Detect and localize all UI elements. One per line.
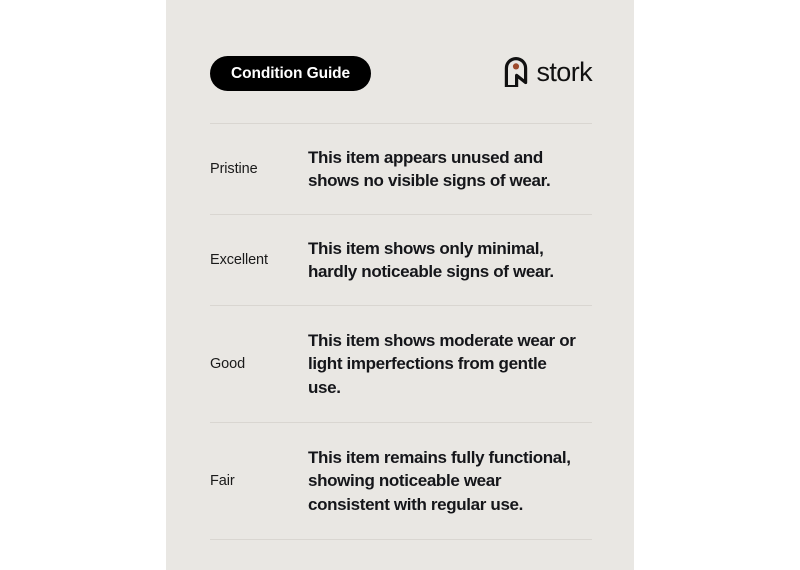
description-line: This item appears unused and: [308, 146, 592, 169]
condition-label-good: Good: [210, 355, 308, 374]
brand-name: stork: [536, 59, 592, 86]
description-line: use.: [308, 376, 592, 399]
condition-description-fair: This item remains fully functional, show…: [308, 446, 592, 516]
stork-arch-logo-icon: [503, 55, 529, 87]
condition-guide-badge[interactable]: Condition Guide: [210, 56, 371, 91]
description-line: light imperfections from gentle: [308, 352, 592, 375]
brand-logo[interactable]: stork: [503, 52, 592, 90]
table-row: Fair This item remains fully functional,…: [210, 423, 592, 539]
table-row: Good This item shows moderate wear or li…: [210, 306, 592, 422]
table-divider-bottom: [210, 539, 592, 540]
table-row: Pristine This item appears unused and sh…: [210, 124, 592, 214]
description-line: consistent with regular use.: [308, 493, 592, 516]
condition-description-excellent: This item shows only minimal, hardly not…: [308, 237, 592, 284]
condition-label-pristine: Pristine: [210, 160, 308, 179]
card-header: Condition Guide stork: [166, 0, 634, 123]
description-line: This item shows moderate wear or: [308, 329, 592, 352]
condition-guide-badge-label: Condition Guide: [231, 66, 350, 82]
description-line: This item shows only minimal,: [308, 237, 592, 260]
condition-description-good: This item shows moderate wear or light i…: [308, 329, 592, 399]
description-line: hardly noticeable signs of wear.: [308, 260, 592, 283]
description-line: showing noticeable wear: [308, 469, 592, 492]
table-row: Excellent This item shows only minimal, …: [210, 215, 592, 305]
description-line: This item remains fully functional,: [308, 446, 592, 469]
condition-table: Pristine This item appears unused and sh…: [210, 123, 592, 540]
condition-label-excellent: Excellent: [210, 251, 308, 270]
page-root: Condition Guide stork Pristine This item…: [0, 0, 800, 570]
condition-guide-card: Condition Guide stork Pristine This item…: [166, 0, 634, 570]
description-line: shows no visible signs of wear.: [308, 169, 592, 192]
condition-description-pristine: This item appears unused and shows no vi…: [308, 146, 592, 193]
condition-label-fair: Fair: [210, 472, 308, 491]
